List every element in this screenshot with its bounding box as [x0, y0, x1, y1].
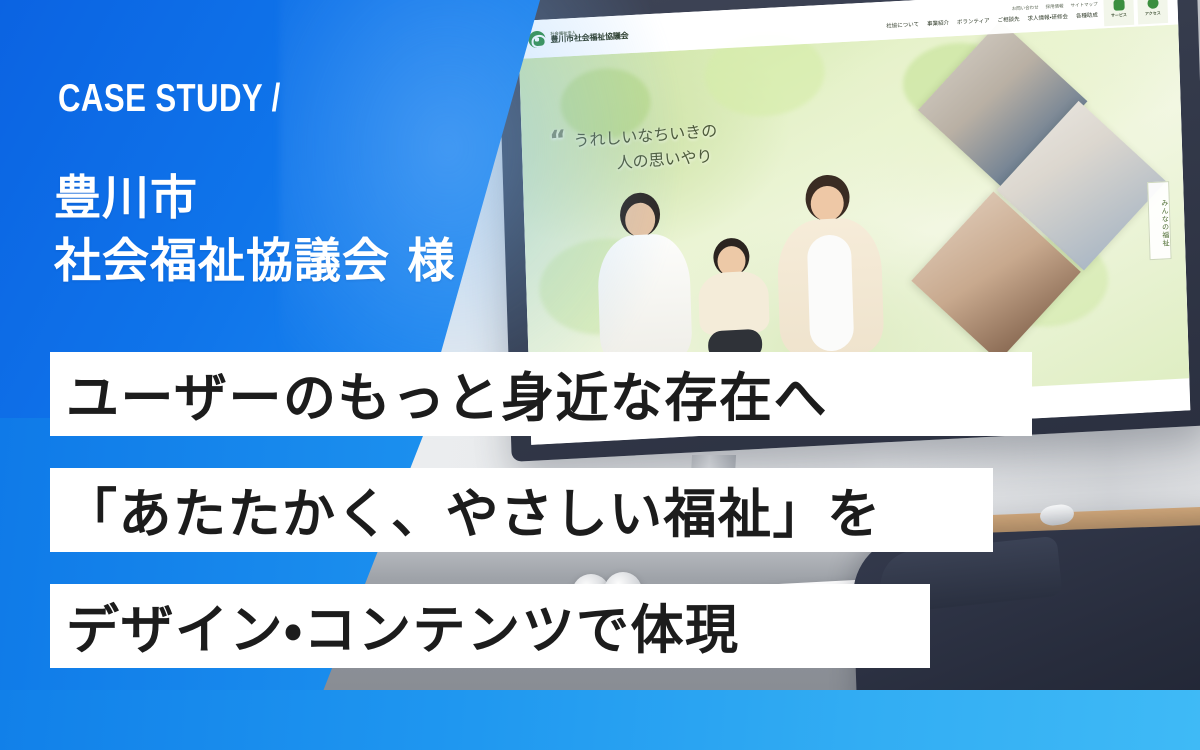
eyebrow-label: CASE STUDY /	[58, 77, 281, 121]
photo-figure-mother	[775, 172, 885, 357]
main-nav-item-2[interactable]: ボランティア	[957, 16, 990, 26]
website-action-service[interactable]: サービス	[1103, 0, 1134, 26]
client-name: 豊川市 社会福祉協議会 様	[54, 168, 455, 293]
main-nav-item-3[interactable]: ご相談先	[997, 14, 1019, 23]
main-nav-item-1[interactable]: 事業紹介	[927, 18, 949, 27]
main-nav-item-4[interactable]: 求人情報・研修会	[1027, 12, 1068, 22]
action-label-0: サービス	[1111, 12, 1127, 19]
client-name-line-1: 豊川市	[54, 168, 455, 231]
main-nav-item-5[interactable]: 各種助成	[1076, 10, 1098, 19]
website-main-nav: 社協について 事業紹介 ボランティア ご相談先 求人情報・研修会 各種助成	[886, 10, 1098, 29]
utility-nav-item-2[interactable]: サイトマップ	[1070, 1, 1097, 8]
headline-box-3: デザイン・コンテンツで体現	[50, 584, 930, 668]
utility-nav-item-0[interactable]: お問い合わせ	[1012, 4, 1039, 11]
website-action-buttons: サービス アクセス	[1103, 0, 1168, 26]
website-navigation: お問い合わせ 採用情報 サイトマップ 社協について 事業紹介 ボランティア ご相…	[886, 1, 1104, 29]
website-action-access[interactable]: アクセス	[1137, 0, 1168, 24]
utility-nav-item-1[interactable]: 採用情報	[1046, 3, 1064, 10]
main-nav-item-0[interactable]: 社協について	[886, 19, 919, 29]
website-logo[interactable]: 社会福祉法人 豊川市社会福祉協議会	[528, 26, 628, 48]
headline-box-2: 「あたたかく、やさしい福祉」を	[50, 468, 993, 552]
headline-text-3: デザイン・コンテンツで体現	[66, 588, 740, 664]
pin-icon	[1147, 0, 1158, 8]
photo-figure-father	[593, 190, 694, 365]
case-study-banner: “ うれしいなちいきの 人の思いやり	[0, 0, 1200, 750]
headline-text-2: 「あたたかく、やさしい福祉」を	[64, 472, 882, 548]
logo-name-text: 豊川市社会福祉協議会	[550, 32, 628, 44]
photo-figure-child	[693, 236, 775, 360]
clover-emblem-icon	[528, 30, 546, 48]
website-photo-collage: みんなの福祉	[934, 61, 1183, 373]
website-vertical-tag[interactable]: みんなの福祉	[1147, 181, 1171, 260]
quote-mark-icon: “	[548, 120, 567, 161]
bag-icon	[1113, 0, 1124, 10]
client-name-line-2: 社会福祉協議会 様	[54, 231, 455, 294]
headline-box-1: ユーザーのもっと身近な存在へ	[50, 352, 1032, 436]
headline-text-1: ユーザーのもっと身近な存在へ	[66, 356, 828, 432]
action-label-1: アクセス	[1145, 10, 1161, 17]
